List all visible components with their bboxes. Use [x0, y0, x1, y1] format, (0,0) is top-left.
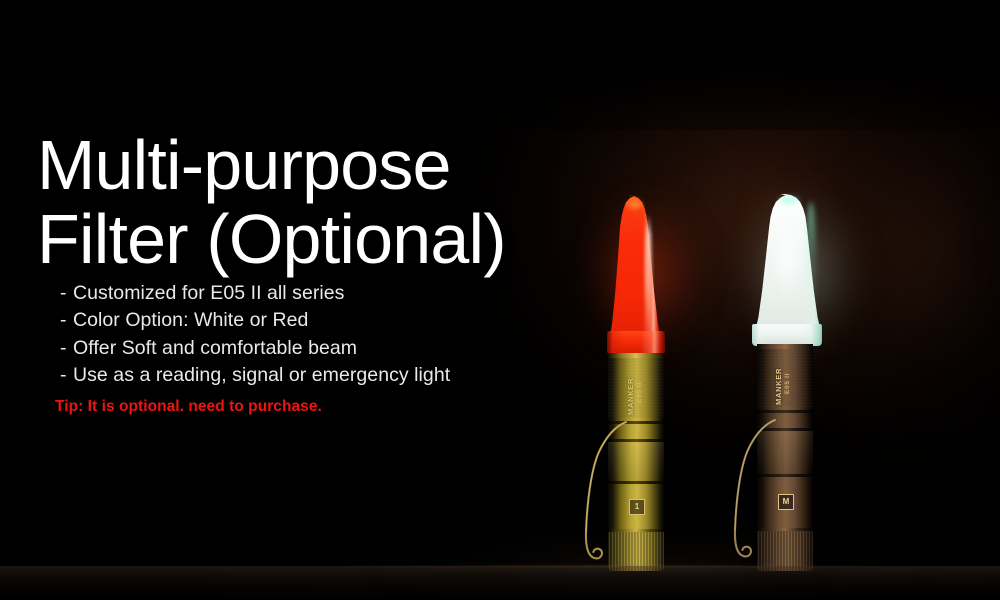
bronze-groove-1	[757, 410, 813, 413]
body-badge: 1	[629, 499, 645, 515]
white-filter-collar	[752, 324, 822, 346]
page-title: Multi-purpose Filter (Optional)	[37, 128, 506, 276]
copy-block: Multi-purpose Filter (Optional) -Customi…	[0, 0, 560, 600]
brand-engraving: MANKER	[626, 361, 635, 415]
feature-text: Offer Soft and comfortable beam	[73, 337, 357, 359]
red-filter-cone-surface	[605, 195, 665, 343]
bullet-marker: -	[60, 335, 73, 362]
body-badge: M	[778, 494, 794, 510]
pocket-clip	[731, 418, 779, 568]
feature-text: Customized for E05 II all series	[73, 282, 344, 304]
list-item: -Customized for E05 II all series	[60, 280, 450, 307]
model-engraving: E05 II	[636, 369, 643, 403]
white-filter-cone	[750, 194, 826, 336]
brand-engraving: MANKER	[774, 351, 783, 405]
bullet-marker: -	[60, 280, 73, 307]
feature-text: Use as a reading, signal or emergency li…	[73, 364, 450, 386]
white-filter-cone-surface	[750, 194, 826, 336]
list-item: -Offer Soft and comfortable beam	[60, 335, 450, 362]
model-engraving: E05 II	[784, 360, 791, 394]
pocket-clip	[582, 420, 630, 570]
product-banner: MANKER E05 II 1	[0, 0, 1000, 600]
tip-note: Tip: It is optional. need to purchase.	[55, 398, 322, 416]
product-e05-ii-bronze-white-filter: MANKER E05 II M	[700, 180, 880, 580]
list-item: -Use as a reading, signal or emergency l…	[60, 362, 450, 389]
red-filter-collar	[607, 331, 665, 355]
list-item: -Color Option: White or Red	[60, 307, 450, 334]
bullet-marker: -	[60, 307, 73, 334]
red-filter-cone	[605, 195, 665, 343]
feature-list: -Customized for E05 II all series -Color…	[60, 280, 450, 390]
bullet-marker: -	[60, 362, 73, 389]
feature-text: Color Option: White or Red	[73, 309, 308, 331]
